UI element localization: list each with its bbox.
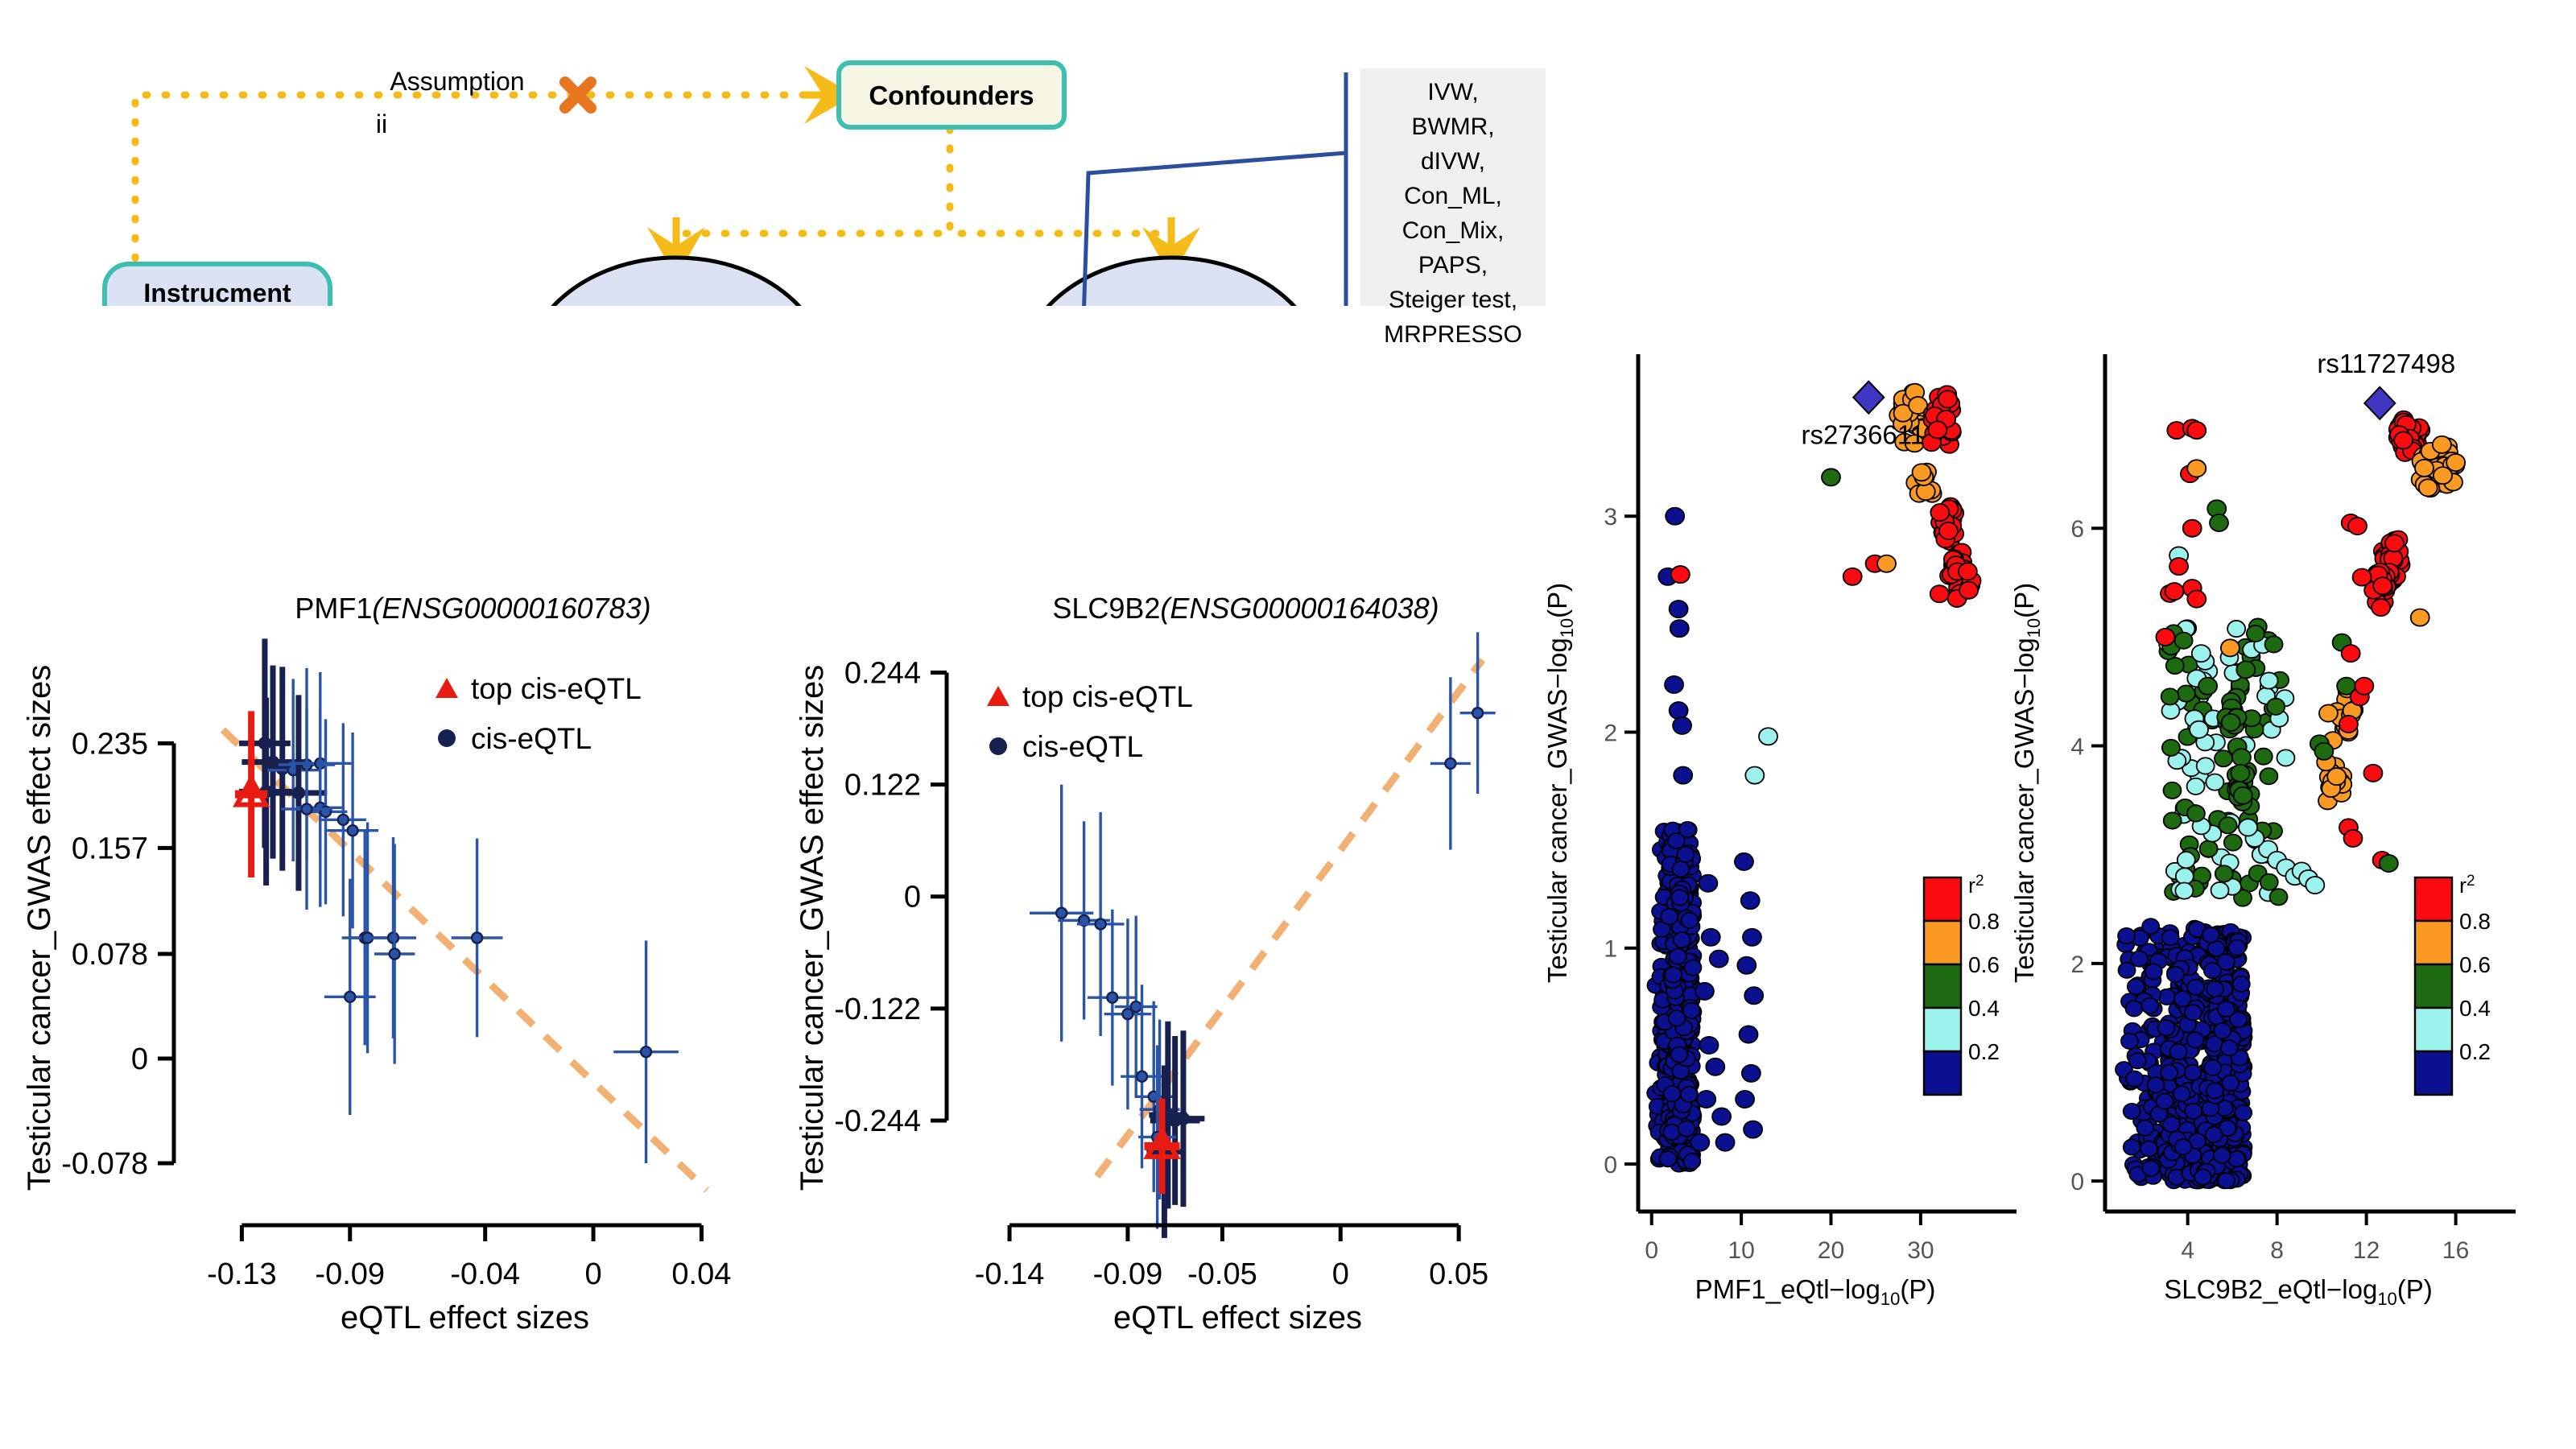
locus-point[interactable] (2125, 1001, 2142, 1016)
locus-point[interactable] (2173, 1086, 2190, 1101)
x-tick-label: 0.04 (671, 1257, 731, 1291)
locus-point[interactable] (2211, 882, 2229, 898)
method-item: dIVW, (1421, 144, 1485, 179)
lead-snp-diamond[interactable] (2364, 387, 2395, 419)
method-item: PAPS, (1418, 248, 1488, 283)
locus-point[interactable] (2236, 661, 2255, 678)
locus-point[interactable] (1930, 504, 1949, 521)
x-axis-label: PMF1_eQtl−log10(P) (1695, 1274, 1936, 1309)
legend-label-cis-eqtl: cis-eQTL (1022, 730, 1143, 763)
locus-point[interactable] (2372, 599, 2390, 616)
x-tick-label: -0.14 (975, 1257, 1045, 1291)
x-tick-label: 4 (2181, 1237, 2194, 1264)
confounders-label: Confounders (869, 80, 1034, 110)
locus-point[interactable] (2157, 1093, 2173, 1108)
method-item: Steiger test, (1389, 283, 1517, 317)
locus-point[interactable] (2163, 1117, 2180, 1132)
x-tick-label: -0.05 (1187, 1257, 1257, 1291)
locus-point[interactable] (1699, 875, 1717, 892)
locus-point[interactable] (2176, 868, 2194, 884)
edge-confounder-to-exposure (676, 129, 950, 258)
cis-eqtl-point[interactable] (338, 815, 349, 825)
y-tick-label: -0.122 (834, 993, 921, 1026)
locus-point[interactable] (1843, 568, 1862, 585)
locus-point[interactable] (1664, 1086, 1681, 1101)
locus-point[interactable] (2167, 967, 2184, 982)
locus-point[interactable] (1665, 967, 1682, 982)
locus-point[interactable] (1745, 767, 1764, 784)
locus-point[interactable] (1743, 929, 1761, 946)
legend-label-cis-eqtl: cis-eQTL (471, 722, 592, 755)
cis-eqtl-point[interactable] (1472, 708, 1483, 718)
locus-point[interactable] (1877, 555, 1896, 572)
y-axis-label: Testicular cancer_GWAS effect sizes (795, 665, 830, 1191)
locus-point[interactable] (2187, 805, 2205, 821)
legend-label-top-cis-eqtl: top cis-eQTL (471, 672, 642, 705)
locus-point[interactable] (2187, 1032, 2204, 1047)
cis-eqtl-point[interactable] (641, 1046, 651, 1057)
locus-point[interactable] (2183, 520, 2202, 537)
locus-point[interactable] (2200, 840, 2218, 857)
locus-point[interactable] (2233, 976, 2250, 992)
y-tick-label: 0 (131, 1042, 148, 1076)
locus-point[interactable] (1672, 861, 1689, 877)
locus-point[interactable] (2175, 633, 2193, 649)
x-tick-label: 0.05 (1429, 1257, 1488, 1291)
y-tick-label: 4 (2070, 734, 2084, 761)
locus-point[interactable] (2169, 558, 2188, 575)
locus-point[interactable] (2187, 460, 2206, 477)
locus-point[interactable] (1959, 563, 1977, 580)
legend-title: r2 (2459, 873, 2475, 898)
legend-break-label: 0.4 (2459, 996, 2491, 1021)
cis-eqtl-point[interactable] (348, 825, 358, 836)
locus-point[interactable] (2342, 645, 2360, 662)
locus-point[interactable] (1740, 1026, 1758, 1042)
locus-point[interactable] (2187, 778, 2205, 795)
locus-point[interactable] (2433, 436, 2451, 453)
regression-line (223, 730, 707, 1191)
y-tick-label: -0.244 (834, 1104, 921, 1138)
locus-point[interactable] (1690, 1134, 1709, 1151)
locus-point[interactable] (2126, 1071, 2143, 1086)
assumption-ii-line2: ii (376, 109, 387, 138)
locus-point[interactable] (2207, 981, 2223, 997)
edge-confounder-to-outcome (950, 129, 1171, 258)
cis-eqtl-point[interactable] (1178, 1113, 1189, 1125)
node-exposure-height[interactable] (525, 258, 828, 306)
locus-point[interactable] (2128, 979, 2145, 994)
y-tick-label: 6 (2070, 516, 2084, 543)
locus-point[interactable] (1742, 1065, 1761, 1082)
cis-eqtl-point[interactable] (293, 787, 304, 799)
locus-point[interactable] (2314, 743, 2333, 760)
data-points (1030, 632, 1496, 1238)
lead-snp-diamond[interactable] (1853, 382, 1884, 414)
y-tick-label: 0.235 (72, 727, 148, 761)
locus-point[interactable] (2353, 568, 2372, 585)
y-axis-label: Testicular cancer_GWAS effect sizes (22, 665, 57, 1191)
locus-point[interactable] (2162, 740, 2180, 756)
locus-point[interactable] (2380, 855, 2398, 872)
locus-point[interactable] (1938, 390, 1957, 407)
method-item: IVW, (1427, 75, 1478, 109)
method-item: BWMR, (1411, 109, 1494, 144)
locus-point[interactable] (1681, 913, 1698, 928)
locus-point[interactable] (2215, 750, 2232, 766)
locus-point[interactable] (2210, 514, 2228, 531)
locus-point[interactable] (2222, 1075, 2239, 1091)
x-tick-label: 0 (1332, 1257, 1349, 1291)
y-tick-label: 1 (1604, 936, 1617, 963)
locus-point[interactable] (2222, 714, 2240, 731)
locus-point[interactable] (2339, 716, 2358, 733)
panel-title: SLC9B2(ENSG00000164038) (1052, 592, 1439, 625)
figure-canvas: Instrucment al Variables SNP 1 ... SNP n… (0, 0, 2576, 1449)
x-axis-label: eQTL effect sizes (341, 1300, 589, 1335)
locus-point[interactable] (1661, 909, 1678, 924)
locus-point[interactable] (1702, 929, 1720, 946)
legend: top cis-eQTLcis-eQTL (436, 672, 642, 755)
y-tick-label: 0.122 (844, 769, 921, 803)
locus-point[interactable] (1744, 987, 1763, 1004)
locus-point[interactable] (2419, 479, 2438, 496)
locus-point[interactable] (1674, 932, 1690, 947)
locus-point[interactable] (2434, 467, 2452, 484)
locus-point[interactable] (1697, 1091, 1715, 1108)
locus-point[interactable] (2219, 817, 2237, 833)
locus-point[interactable] (1744, 1121, 1762, 1137)
legend-break-label: 0.2 (1968, 1039, 2000, 1064)
locus-point[interactable] (1716, 1134, 1735, 1151)
legend-break-label: 0.6 (1968, 952, 2000, 977)
locus-point[interactable] (1671, 890, 1688, 905)
locus-point[interactable] (2124, 1104, 2140, 1119)
locus-point[interactable] (2204, 1060, 2221, 1075)
locus-point[interactable] (2192, 645, 2211, 662)
legend-swatch (1924, 964, 1961, 1008)
locus-point[interactable] (2141, 998, 2158, 1013)
locus-point[interactable] (2145, 964, 2162, 979)
locus-point[interactable] (2232, 749, 2251, 766)
lead-snp-label: rs2736611 (1802, 420, 1926, 450)
legend-swatch (2415, 921, 2452, 964)
legend-swatch (1924, 921, 1961, 964)
iv-line1: Instrucment (143, 279, 291, 306)
locus-point[interactable] (2411, 609, 2429, 625)
y-tick-label: 0.157 (72, 832, 148, 865)
locus-point[interactable] (2394, 431, 2413, 448)
locus-point[interactable] (2206, 774, 2223, 790)
method-item: MRPRESSO (1384, 317, 1522, 352)
assumption-ii-line1: Assumption (390, 67, 524, 96)
locus-point[interactable] (2207, 1083, 2223, 1098)
x-tick-label: 8 (2270, 1237, 2284, 1264)
locus-point[interactable] (2247, 625, 2264, 642)
y-tick-label: 0.078 (72, 938, 148, 972)
legend-triangle-icon (987, 686, 1009, 706)
legend-break-label: 0.6 (2459, 952, 2491, 977)
locus-point[interactable] (2136, 1120, 2153, 1135)
locus-point[interactable] (2215, 865, 2233, 881)
locus-point[interactable] (2218, 1173, 2235, 1188)
cis-eqtl-point[interactable] (1137, 1071, 1147, 1082)
locus-point[interactable] (2234, 787, 2252, 804)
locus-point[interactable] (2306, 877, 2324, 894)
locus-point[interactable] (2214, 1148, 2231, 1163)
locus-point[interactable] (1683, 1003, 1700, 1018)
locus-point[interactable] (1684, 960, 1701, 975)
locus-point[interactable] (2204, 963, 2221, 978)
locus-point[interactable] (1670, 702, 1688, 719)
x-tick-label: 16 (2442, 1237, 2469, 1264)
legend-swatch (2415, 964, 2452, 1008)
y-axis-label: Testicular cancer_GWAS−log10(P) (2009, 583, 2044, 983)
locus-point[interactable] (2178, 685, 2195, 701)
legend-break-label: 0.8 (2459, 909, 2491, 934)
locus-point[interactable] (1928, 421, 1946, 438)
x-tick-label: -0.13 (207, 1257, 277, 1291)
r2-legend: r20.80.60.40.2 (1924, 873, 2000, 1095)
x-tick-label: 0 (1645, 1237, 1658, 1264)
locus-point[interactable] (2235, 1105, 2252, 1121)
locus-point[interactable] (2214, 1023, 2231, 1038)
y-tick-label: 0 (904, 881, 921, 914)
locus-point[interactable] (2165, 583, 2184, 600)
legend-swatch (2415, 1051, 2452, 1095)
locus-point[interactable] (2175, 1139, 2192, 1154)
locus-point[interactable] (1700, 1037, 1719, 1054)
panel-pmf1-locuscompare: rs273661101230102030PMF1_eQtl−log10(P)Te… (1529, 322, 2077, 1449)
method-item: Con_Mix, (1402, 213, 1505, 248)
legend-label-top-cis-eqtl: top cis-eQTL (1022, 680, 1193, 713)
locus-point[interactable] (1736, 1091, 1754, 1108)
locus-point[interactable] (2343, 830, 2362, 847)
locus-point[interactable] (2185, 1104, 2202, 1119)
locus-point[interactable] (1674, 767, 1692, 784)
locus-point[interactable] (2194, 1169, 2211, 1184)
locus-point[interactable] (2163, 782, 2181, 799)
locus-point[interactable] (2184, 1065, 2201, 1080)
locus-point[interactable] (1712, 1108, 1731, 1125)
locus-point[interactable] (2142, 1161, 2159, 1176)
locus-point[interactable] (2415, 460, 2434, 477)
locus-point[interactable] (1670, 601, 1688, 617)
locus-point[interactable] (2129, 1053, 2146, 1068)
x-axis-label: SLC9B2_eQtl−log10(P) (2164, 1274, 2433, 1309)
legend-swatch (1924, 877, 1961, 921)
y-tick-label: 2 (2070, 952, 2084, 978)
locus-point[interactable] (2319, 704, 2338, 721)
locus-point[interactable] (2161, 1065, 2178, 1080)
locus-point[interactable] (2170, 1044, 2187, 1059)
locus-point[interactable] (2255, 749, 2273, 765)
locus-point[interactable] (2355, 678, 2373, 695)
locus-point[interactable] (1741, 892, 1760, 909)
legend-break-label: 0.8 (1968, 909, 2000, 934)
locus-point[interactable] (1959, 582, 1978, 599)
x-tick-label: 20 (1818, 1237, 1844, 1264)
locus-point[interactable] (1737, 957, 1756, 974)
locus-point[interactable] (1912, 464, 1930, 481)
locus-point[interactable] (2197, 758, 2215, 774)
y-tick-label: 2 (1604, 720, 1617, 746)
panel-slc9b2-locuscompare: rs117274980246481216SLC9B2_eQtl−log10(P)… (1996, 322, 2576, 1449)
cis-eqtl-point[interactable] (1445, 758, 1455, 769)
locus-point[interactable] (2260, 874, 2278, 890)
cis-eqtl-point[interactable] (390, 949, 400, 960)
method-item: Con_ML, (1404, 179, 1502, 213)
locus-point[interactable] (2277, 749, 2294, 766)
locus-point[interactable] (2221, 639, 2240, 656)
x-tick-label: -0.09 (1093, 1257, 1163, 1291)
locus-point[interactable] (2161, 688, 2179, 704)
locus-point[interactable] (1659, 1151, 1676, 1166)
locus-point[interactable] (2260, 672, 2278, 688)
y-tick-label: 3 (1604, 504, 1617, 530)
locus-point[interactable] (2348, 518, 2367, 535)
locus-point[interactable] (2221, 1040, 2238, 1055)
locus-point[interactable] (1678, 1121, 1695, 1136)
x-tick-label: 12 (2353, 1237, 2380, 1264)
locus-point[interactable] (1671, 566, 1690, 583)
locus-point[interactable] (2147, 1077, 2164, 1092)
locus-point[interactable] (1673, 717, 1691, 734)
locus-point[interactable] (2124, 1139, 2140, 1154)
locus-point[interactable] (1822, 469, 1840, 485)
locus-point[interactable] (2156, 629, 2174, 646)
locus-point[interactable] (1759, 728, 1777, 745)
locus-point[interactable] (2187, 422, 2206, 439)
locus-point[interactable] (1706, 1059, 1724, 1075)
locus-point[interactable] (2239, 819, 2257, 836)
locus-point[interactable] (2178, 852, 2195, 868)
y-tick-label: 0 (1604, 1152, 1617, 1179)
r2-legend: r20.80.60.40.2 (2415, 873, 2491, 1095)
x-tick-label: -0.09 (315, 1257, 385, 1291)
x-axis-label: eQTL effect sizes (1113, 1300, 1362, 1335)
legend-swatch (1924, 1008, 1961, 1051)
panel-pmf1-effect-scatter: PMF1(ENSG00000160783)-0.13-0.09-0.0400.0… (0, 580, 773, 1449)
locus-point[interactable] (1735, 853, 1753, 870)
cis-eqtl-point[interactable] (345, 992, 355, 1002)
y-tick-label: -0.078 (61, 1147, 148, 1181)
locus-point[interactable] (1683, 1154, 1700, 1169)
legend: top cis-eQTLcis-eQTL (987, 680, 1193, 763)
locus-point[interactable] (2265, 636, 2283, 652)
panel-slc9b2-effect-scatter: SLC9B2(ENSG00000164038)-0.14-0.09-0.0500… (773, 580, 1546, 1449)
locus-point[interactable] (1670, 1046, 1687, 1062)
cis-eqtl-point[interactable] (1096, 919, 1106, 929)
locus-point[interactable] (2118, 928, 2135, 943)
x-tick-label: 30 (1907, 1237, 1934, 1264)
legend-swatch (2415, 1008, 2452, 1051)
locus-point[interactable] (2175, 882, 2193, 898)
legend-break-label: 0.2 (2459, 1039, 2491, 1064)
methods-list: IVW, BWMR, dIVW, Con_ML, Con_Mix, PAPS, … (1360, 68, 1546, 358)
cis-eqtl-point[interactable] (1056, 908, 1067, 919)
locus-point[interactable] (2157, 1020, 2174, 1035)
locus-point[interactable] (2131, 951, 2148, 966)
locus-point[interactable] (2121, 1034, 2138, 1049)
legend-swatch (1924, 1051, 1961, 1095)
locus-point[interactable] (1666, 508, 1684, 525)
locus-point[interactable] (2230, 1012, 2247, 1027)
x-tick-label: -0.04 (450, 1257, 520, 1291)
lead-snp-label: rs11727498 (2317, 349, 2455, 378)
locus-point[interactable] (2224, 834, 2242, 850)
locus-point[interactable] (1695, 983, 1714, 1000)
locus-point[interactable] (2260, 768, 2277, 784)
locus-point[interactable] (2162, 930, 2179, 945)
locus-point[interactable] (2270, 889, 2288, 905)
data-points (2116, 411, 2465, 1189)
locus-point[interactable] (1930, 585, 1949, 602)
locus-point[interactable] (2231, 765, 2249, 782)
legend-triangle-icon (436, 678, 458, 698)
locus-point[interactable] (2228, 939, 2245, 955)
cis-eqtl-point[interactable] (302, 804, 312, 815)
data-points (239, 638, 679, 1163)
locus-point[interactable] (1679, 822, 1696, 837)
locus-point[interactable] (2206, 1127, 2223, 1142)
locus-point[interactable] (2363, 765, 2382, 782)
cis-eqtl-point[interactable] (1131, 1001, 1141, 1012)
legend-circle-icon (989, 737, 1007, 755)
locus-point[interactable] (2373, 577, 2392, 594)
locus-point[interactable] (2190, 721, 2208, 738)
locus-point[interactable] (1670, 620, 1689, 637)
locus-point[interactable] (2227, 621, 2245, 637)
locus-point[interactable] (1665, 676, 1683, 693)
cis-eqtl-point[interactable] (1107, 993, 1117, 1003)
locus-point[interactable] (1939, 522, 1958, 539)
locus-point[interactable] (2185, 1005, 2202, 1020)
locus-point[interactable] (2446, 454, 2465, 471)
locus-point[interactable] (1710, 951, 1728, 968)
node-outcome-testicular-cancer[interactable] (1020, 258, 1323, 306)
panel-title: PMF1(ENSG00000160783) (295, 592, 650, 625)
x-tick-label: 0 (584, 1257, 601, 1291)
cis-eqtl-point[interactable] (472, 933, 482, 943)
y-axis-label: Testicular cancer_GWAS−log10(P) (1542, 583, 1577, 983)
legend-swatch (2415, 877, 2452, 921)
x-tick-label: 10 (1728, 1237, 1754, 1264)
locus-point[interactable] (2164, 812, 2182, 828)
legend-circle-icon (438, 729, 456, 747)
edge-assumption-ii (135, 95, 829, 278)
legend-break-label: 0.4 (1968, 996, 2000, 1021)
y-tick-label: 0 (2070, 1169, 2084, 1195)
locus-point[interactable] (2187, 591, 2206, 608)
locus-point[interactable] (2385, 535, 2404, 551)
locus-point[interactable] (2267, 699, 2285, 715)
locus-point[interactable] (1670, 948, 1686, 964)
locus-point[interactable] (2187, 980, 2204, 995)
locus-point[interactable] (2198, 678, 2217, 695)
locus-point[interactable] (1677, 847, 1694, 862)
legend-title: r2 (1968, 873, 1984, 898)
locus-point[interactable] (2140, 1141, 2157, 1156)
locus-point[interactable] (1681, 1087, 1698, 1102)
y-tick-label: 0.244 (844, 657, 921, 691)
locus-point[interactable] (2202, 927, 2219, 943)
